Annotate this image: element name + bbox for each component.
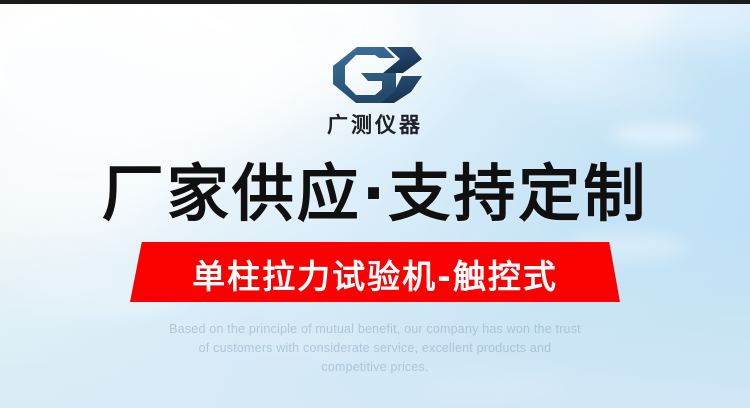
promo-banner: 广测仪器 厂家供应·支持定制 单柱拉力试验机-触控式 Based on the … xyxy=(0,0,750,408)
hexagon-g-logo-icon xyxy=(327,46,423,104)
english-tagline: Based on the principle of mutual benefit… xyxy=(168,320,582,377)
brand-logo: 广测仪器 xyxy=(0,46,750,139)
brand-name: 广测仪器 xyxy=(327,109,423,139)
top-edge-strip xyxy=(0,0,750,4)
tagline-line-3: prices. xyxy=(390,360,428,374)
tagline-line-2: customers with considerate service, exce… xyxy=(213,341,551,374)
product-title-banner: 单柱拉力试验机-触控式 xyxy=(130,242,620,302)
headline-text: 厂家供应·支持定制 xyxy=(0,163,750,225)
product-title-text: 单柱拉力试验机-触控式 xyxy=(130,242,620,302)
